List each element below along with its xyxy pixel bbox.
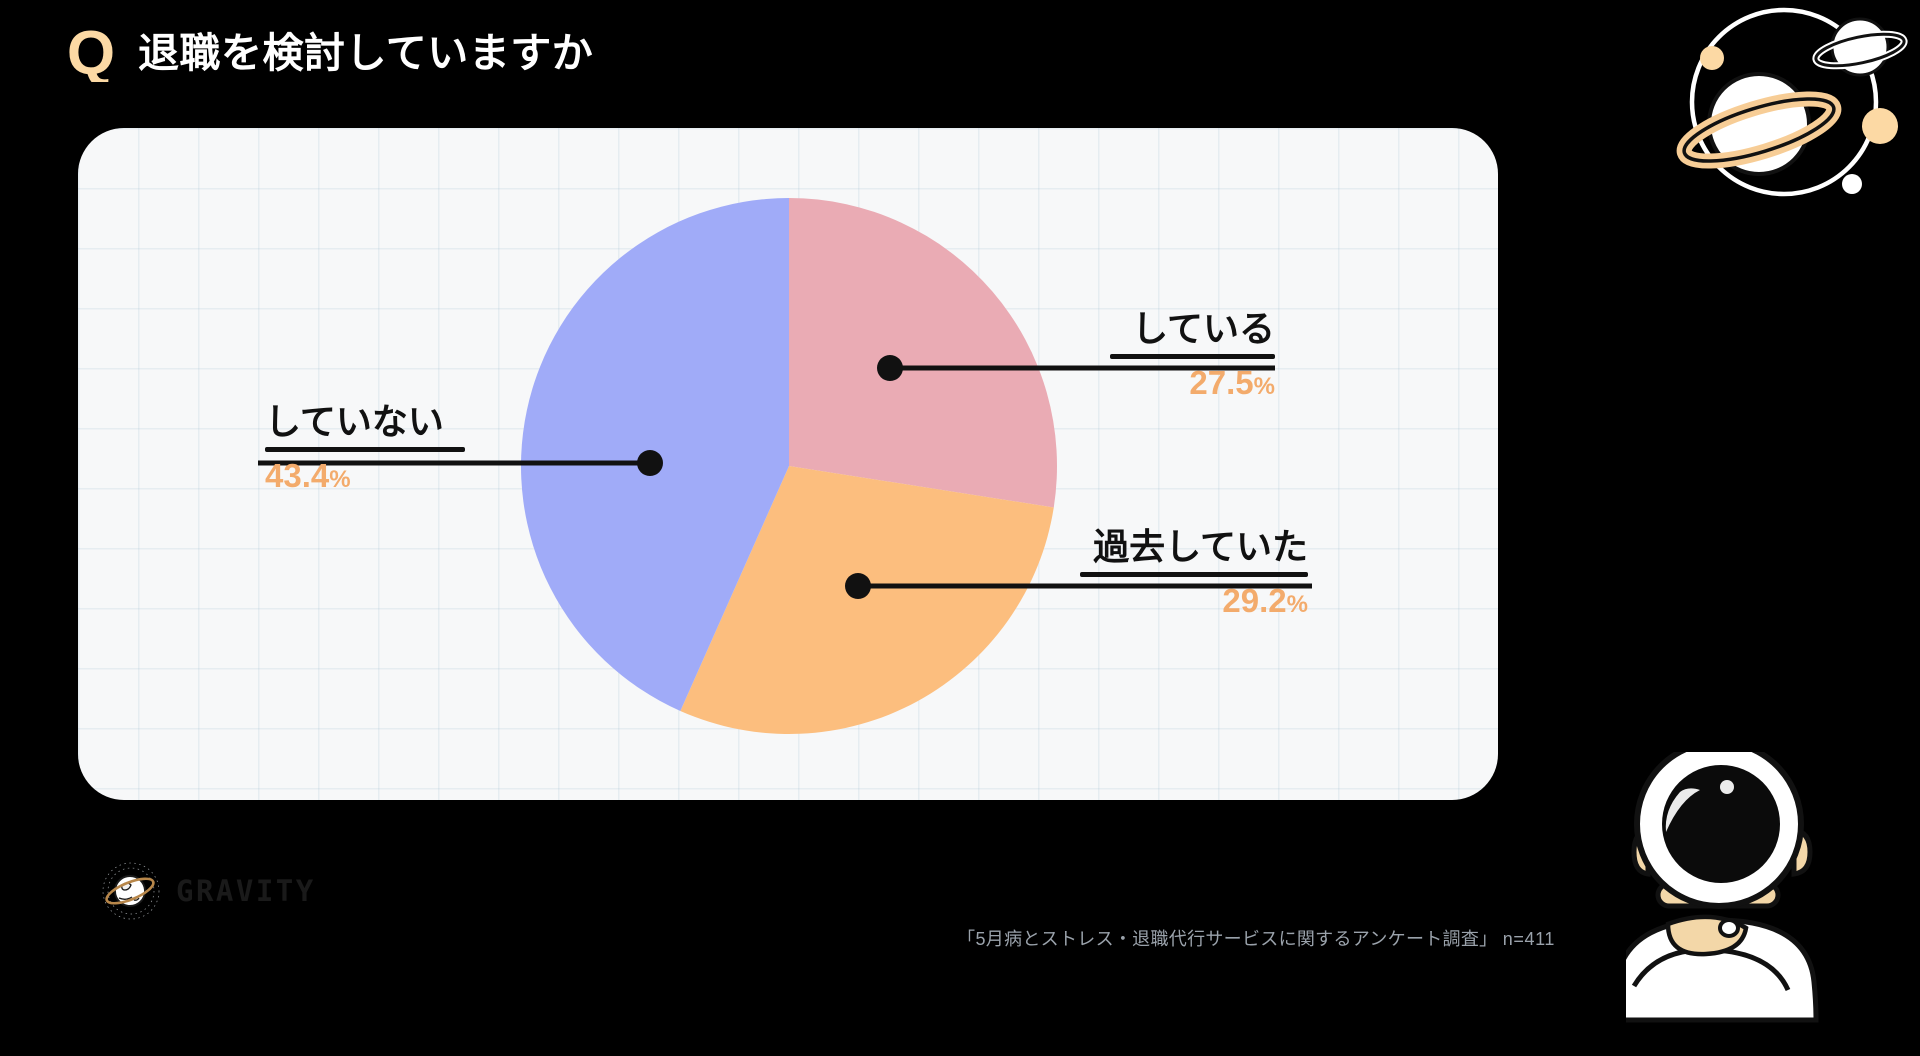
page-title: 退職を検討していますか bbox=[138, 33, 593, 74]
astronaut-icon bbox=[1626, 752, 1920, 1052]
callout-percent: 27.5% bbox=[1110, 364, 1275, 402]
source-title: 「5月病とストレス・退職代行サービスに関するアンケート調査」 bbox=[957, 929, 1497, 949]
saturn-planet-icon bbox=[100, 860, 162, 922]
callout-label: している bbox=[1110, 310, 1275, 348]
pie-chart bbox=[519, 196, 1059, 736]
sample-size: n=411 bbox=[1503, 929, 1555, 949]
callout-percent: 43.4% bbox=[265, 457, 465, 495]
pie-chart-svg bbox=[519, 196, 1059, 736]
callout-label: 過去していた bbox=[1080, 528, 1308, 566]
orbit-dot-large-orange bbox=[1862, 108, 1898, 144]
orbit-dot-small-orange bbox=[1700, 46, 1724, 70]
brand-logo: GRAVITY bbox=[100, 860, 316, 922]
callout-shiteinai: していない 43.4% bbox=[265, 403, 465, 495]
callout-shiteiru: している 27.5% bbox=[1110, 310, 1275, 402]
source-note: 「5月病とストレス・退職代行サービスに関するアンケート調査」 n=411 bbox=[915, 925, 1555, 951]
callout-kako: 過去していた 29.2% bbox=[1080, 528, 1308, 620]
callout-percent: 29.2% bbox=[1080, 582, 1308, 620]
pie-slice-shiteiru[interactable] bbox=[789, 198, 1057, 507]
callout-label: していない bbox=[265, 403, 465, 441]
orbit-dot-white bbox=[1842, 174, 1862, 194]
callout-rule bbox=[1110, 354, 1275, 359]
slide-header: Q 退職を検討していますか bbox=[62, 24, 593, 82]
brand-name: GRAVITY bbox=[176, 874, 316, 908]
callout-rule bbox=[265, 447, 465, 452]
question-badge-icon: Q bbox=[62, 24, 120, 82]
svg-text:Q: Q bbox=[67, 24, 115, 82]
callout-rule bbox=[1080, 572, 1308, 577]
slide-canvas: Q 退職を検討していますか している bbox=[0, 0, 1920, 1056]
planets-orbit-icon bbox=[1624, 2, 1920, 207]
